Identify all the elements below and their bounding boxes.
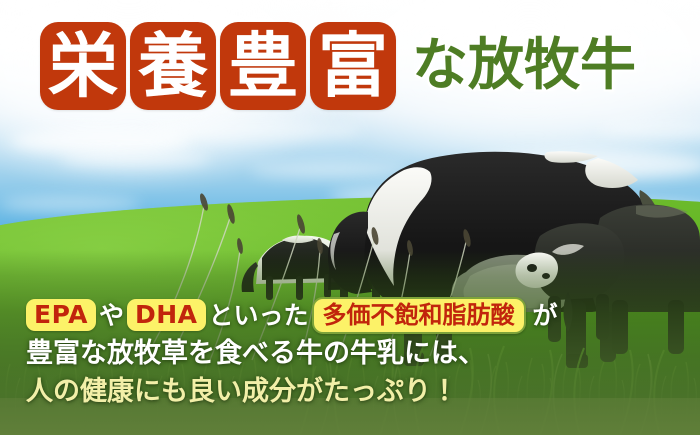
chip-dha: DHA: [127, 299, 206, 331]
headline-box-char-1: 栄: [40, 22, 126, 110]
headline-box-char-4: 富: [310, 22, 396, 110]
headline-box-char-3: 豊: [220, 22, 306, 110]
copy-connector-1: や: [99, 303, 124, 328]
chip-polyunsaturated-fatty-acid: 多価不飽和脂肪酸: [312, 297, 526, 334]
body-copy: EPA や DHA といった 多価不飽和脂肪酸 が 豊富な放牧草を食べる牛の牛乳…: [0, 296, 700, 410]
copy-connector-2: といった: [209, 303, 309, 328]
copy-line-1: EPA や DHA といった 多価不飽和脂肪酸 が: [26, 296, 700, 334]
copy-line-2-text: 豊富な放牧草を食べる牛の牛乳には、: [26, 340, 485, 367]
headline: 栄 養 豊 富 な放牧牛: [40, 22, 636, 110]
copy-line-1-tail: が: [533, 303, 558, 328]
copy-line-3-text: 人の健康にも良い成分がたっぷり！: [26, 378, 458, 405]
copy-line-3: 人の健康にも良い成分がたっぷり！: [26, 372, 700, 410]
copy-line-2: 豊富な放牧草を食べる牛の牛乳には、: [26, 334, 700, 372]
headline-box-char-2: 養: [130, 22, 216, 110]
chip-epa: EPA: [26, 299, 96, 331]
promo-banner: 栄 養 豊 富 な放牧牛 EPA や DHA といった 多価不飽和脂肪酸 が 豊…: [0, 0, 700, 435]
headline-tail-text: な放牧牛: [412, 38, 636, 94]
